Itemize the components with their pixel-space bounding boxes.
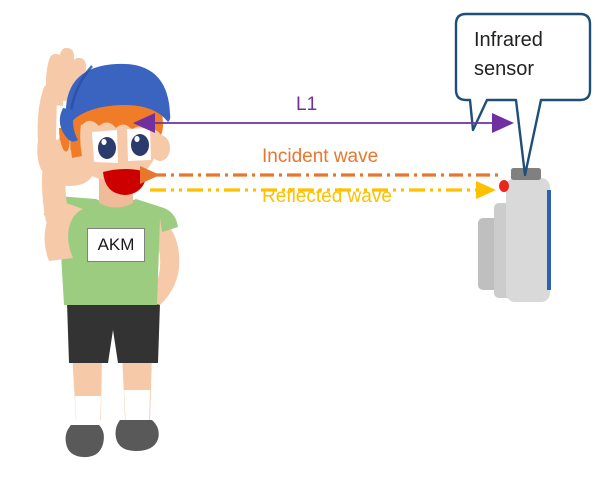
l1-label: L1	[296, 94, 317, 116]
shirt-badge: AKM	[87, 228, 145, 262]
incident-arrowhead	[140, 166, 160, 184]
eye-highlight-right	[134, 136, 139, 142]
callout-text-line-1: Infrared	[474, 26, 584, 55]
sensor-dot	[499, 180, 509, 192]
diagram-canvas: L1 Incident wave Reflected wave Infrared…	[0, 0, 600, 498]
pupil-right	[131, 134, 149, 156]
pupil-left	[98, 137, 116, 159]
camera-body	[506, 178, 550, 302]
incident-wave-label: Incident wave	[262, 146, 378, 168]
l1-arrowhead-right	[492, 113, 514, 133]
l1-measure-line	[133, 113, 514, 133]
camera-accent-stripe	[547, 190, 551, 290]
ear-right	[150, 135, 170, 161]
reflected-arrowhead	[476, 181, 496, 199]
incident-wave-line	[140, 166, 498, 184]
callout-text-line-2: sensor	[474, 55, 584, 84]
reflected-wave-label: Reflected wave	[262, 186, 392, 208]
shorts	[67, 303, 160, 363]
shoe-left	[66, 425, 104, 457]
eye-highlight-left	[101, 139, 106, 145]
shirt-badge-text: AKM	[98, 235, 135, 255]
shoe-right	[116, 420, 159, 451]
callout-text: Infrared sensor	[474, 26, 584, 84]
